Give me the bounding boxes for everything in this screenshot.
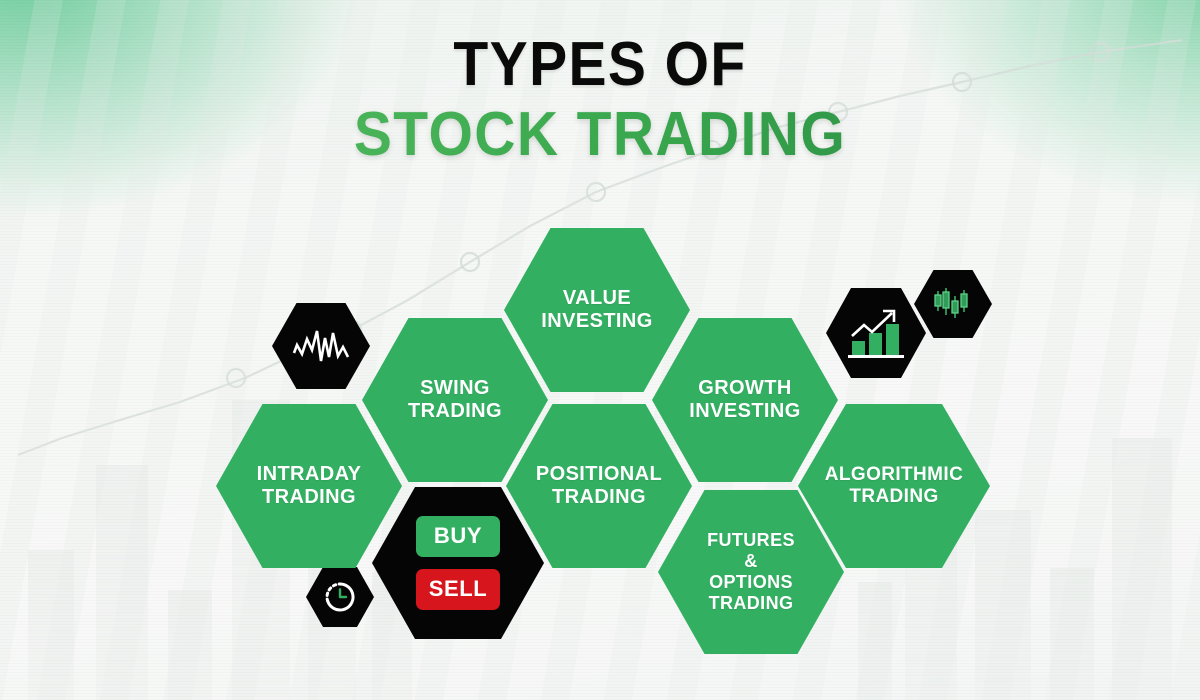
infographic-canvas: TYPES OF STOCK TRADING — [0, 0, 1200, 700]
sell-pill[interactable]: SELL — [416, 569, 500, 610]
title-line-accent: STOCK TRADING — [48, 104, 1152, 166]
futures-line-4: TRADING — [707, 593, 795, 614]
hexagon-label-futures-options-trading: FUTURES & OPTIONS TRADING — [693, 530, 809, 614]
hexagon-label-value-investing: VALUE INVESTING — [527, 287, 666, 333]
algorithmic-line-2: TRADING — [825, 486, 963, 508]
growth-line-1: GROWTH — [689, 377, 800, 400]
hexagon-label-positional-trading: POSITIONAL TRADING — [522, 463, 676, 509]
hexagon-label-intraday-trading: INTRADAY TRADING — [243, 463, 376, 509]
positional-line-2: TRADING — [536, 486, 662, 509]
futures-line-3: OPTIONS — [707, 572, 795, 593]
intraday-line-1: INTRADAY — [257, 463, 362, 486]
positional-line-1: POSITIONAL — [536, 463, 662, 486]
value-line-1: VALUE — [541, 287, 652, 310]
page-title: TYPES OF STOCK TRADING — [0, 34, 1200, 166]
hexagon-label-growth-investing: GROWTH INVESTING — [675, 377, 814, 423]
growth-line-2: INVESTING — [689, 400, 800, 423]
futures-line-2: & — [707, 551, 795, 572]
intraday-line-2: TRADING — [257, 486, 362, 509]
swing-line-1: SWING — [408, 377, 502, 400]
title-line-primary: TYPES OF — [48, 34, 1152, 96]
hexagon-label-algorithmic-trading: ALGORITHMIC TRADING — [811, 464, 977, 508]
buy-sell-pill-stack: BUY SELL — [416, 516, 500, 610]
hexagon-label-swing-trading: SWING TRADING — [394, 377, 516, 423]
value-line-2: INVESTING — [541, 310, 652, 333]
futures-line-1: FUTURES — [707, 530, 795, 551]
buy-pill[interactable]: BUY — [416, 516, 500, 557]
swing-line-2: TRADING — [408, 400, 502, 423]
algorithmic-line-1: ALGORITHMIC — [825, 464, 963, 486]
